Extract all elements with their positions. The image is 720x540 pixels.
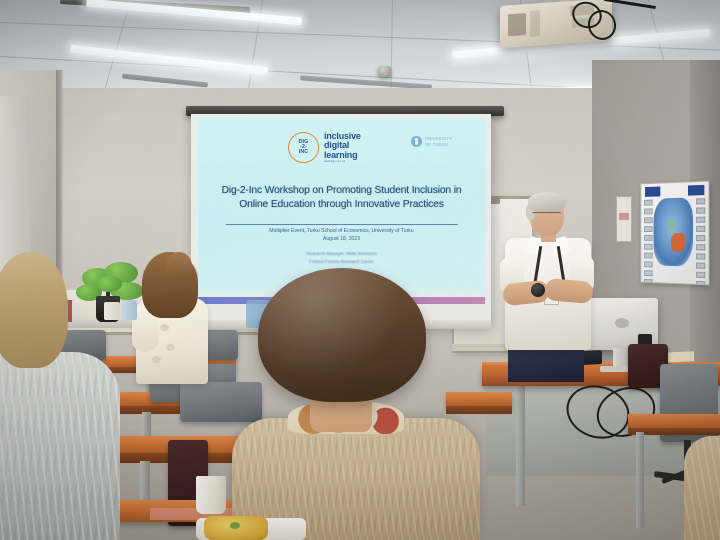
- slide-presenter-line-2: Finland Futures Research Centre: [208, 258, 475, 266]
- left-person-hair: [0, 252, 68, 368]
- poster-highlight-country: [671, 233, 685, 252]
- eyeglasses: [532, 212, 561, 219]
- smoke-detector-icon: [378, 66, 391, 77]
- student-desk-leg: [636, 432, 644, 528]
- poster-highlight-country-2: [667, 219, 676, 230]
- slide-subtitle-line-2: August 18, 2023: [208, 236, 475, 244]
- slide-title-line-2: Online Education through Innovative Prac…: [208, 198, 475, 212]
- wall-notice: [616, 196, 632, 242]
- university-emblem-icon: [411, 136, 422, 147]
- dig2inc-logo: DIG -2- INC inclusive digital learning w…: [288, 132, 361, 163]
- student-desk-edge: [446, 406, 512, 414]
- poster-flag-column-right: [696, 198, 705, 285]
- slide-divider: [226, 224, 458, 225]
- logo-tagline: www.dig-2-inc.eu: [324, 160, 361, 163]
- university-logo-text: UNIVERSITY OF TURKU: [425, 136, 452, 146]
- speaker-right-arm: [544, 278, 594, 304]
- foreground-person-hair: [258, 268, 426, 402]
- poster-header-left: [645, 187, 660, 197]
- university-of-turku-logo: UNIVERSITY OF TURKU: [411, 136, 452, 147]
- poster-header-right: [688, 185, 704, 196]
- right-person-sleeve: [684, 436, 720, 540]
- university-line-1: UNIVERSITY: [425, 136, 452, 141]
- student-desk-leg: [140, 461, 150, 505]
- left-person-sweater: [0, 352, 120, 540]
- paper-cup: [121, 300, 137, 320]
- paper-cup: [196, 476, 226, 514]
- paper-cup: [104, 302, 120, 320]
- slide-subtitle-line-1: Multiplier Event, Turku School of Econom…: [208, 228, 475, 236]
- ceiling-light-fixture: [70, 45, 268, 75]
- logo-word-3: learning: [324, 151, 361, 160]
- slide-subtitle: Multiplier Event, Turku School of Econom…: [208, 228, 475, 244]
- slide-presenter-line-1: Research Manager, Nikke Kinnunen: [208, 250, 475, 258]
- europe-map-poster: [640, 181, 709, 286]
- pastry-topping: [230, 522, 240, 529]
- teacher-desk-leg: [516, 384, 525, 506]
- wristwatch: [531, 283, 545, 297]
- chair-back[interactable]: [180, 382, 262, 422]
- logo-line-3: INC: [299, 150, 309, 155]
- slide-title-line-1: Dig-2-Inc Workshop on Promoting Student …: [208, 184, 475, 198]
- dig2inc-logo-wordmark: inclusive digital learning www.dig-2-inc…: [324, 132, 361, 163]
- poster-europe-map: [654, 197, 693, 266]
- speaker-left-hair-front: [166, 252, 192, 280]
- plant-foliage: [96, 276, 122, 292]
- poster-flag-column-left: [644, 200, 653, 286]
- slide-presenter: Research Manager, Nikke Kinnunen Finland…: [208, 250, 475, 267]
- speaker-right-hair: [528, 192, 566, 212]
- slide-title: Dig-2-Inc Workshop on Promoting Student …: [208, 184, 475, 212]
- dig2inc-logo-circle: DIG -2- INC: [288, 132, 319, 163]
- classroom-photo: DIG -2- INC inclusive digital learning w…: [0, 0, 720, 540]
- university-line-2: OF TURKU: [425, 142, 452, 147]
